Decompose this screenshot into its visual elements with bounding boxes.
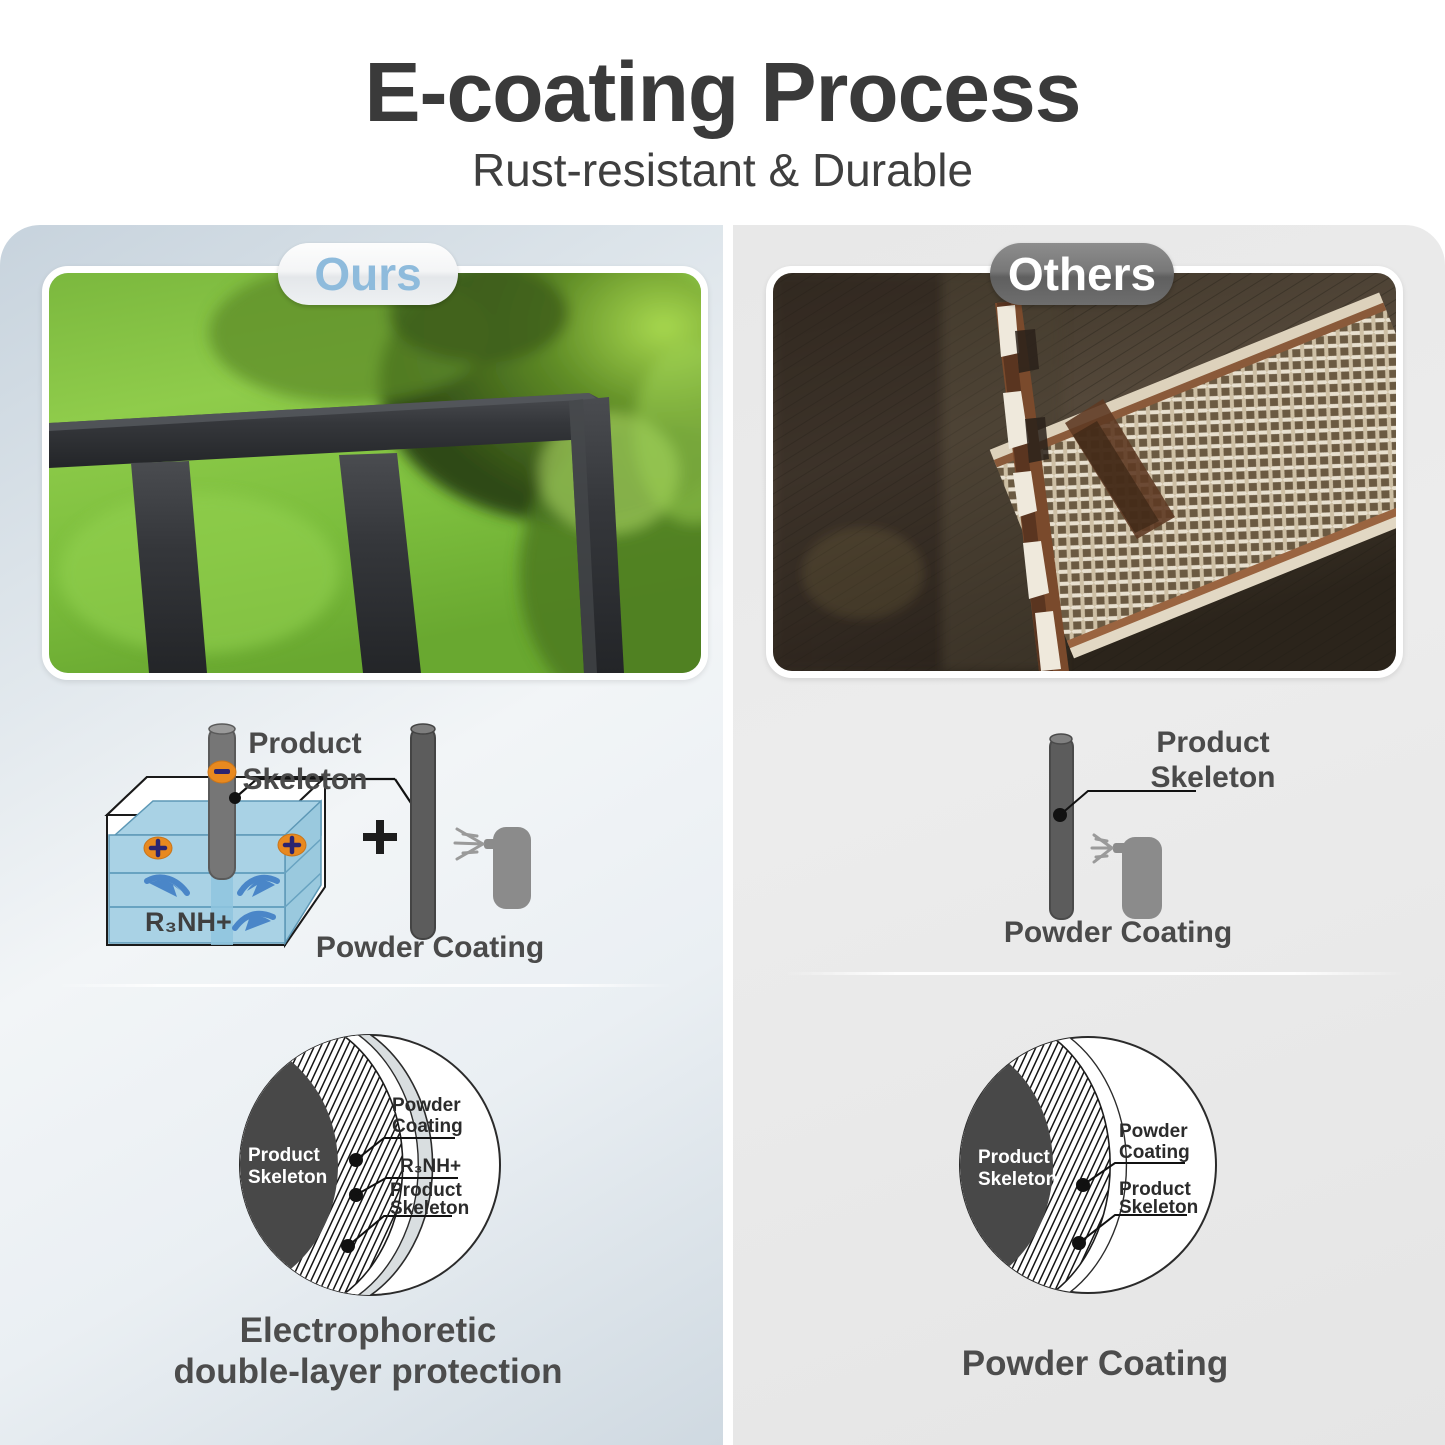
ours-callout-2-line1: R₃NH+ [400, 1156, 461, 1177]
others-core-line2: Skeleton [978, 1169, 1057, 1190]
header: E-coating Process Rust-resistant & Durab… [0, 0, 1445, 218]
others-powder-label: Powder Coating [948, 915, 1288, 951]
page-subtitle: Rust-resistant & Durable [0, 138, 1445, 196]
others-callout-2-line2: Skeleton [1119, 1197, 1198, 1218]
ours-core-line2: Skeleton [248, 1167, 327, 1188]
ours-photo [42, 266, 708, 680]
others-caption: Powder Coating [785, 1343, 1405, 1384]
ours-powder-label: Powder Coating [260, 930, 600, 966]
electrolyte-label: R₃NH+ [145, 907, 232, 937]
divider-left [55, 984, 673, 987]
others-callout-1-line2: Coating [1119, 1142, 1190, 1163]
page-title: E-coating Process [0, 0, 1445, 138]
infographic-root: E-coating Process Rust-resistant & Durab… [0, 0, 1445, 1445]
badge-ours: Ours [278, 243, 458, 305]
ours-callout-1-line1: Powder [392, 1095, 461, 1116]
badge-ours-label: Ours [314, 247, 421, 301]
ours-cross-section: Product Skeleton Powder Coating R₃NH+ Pr… [200, 1020, 530, 1310]
ours-callout-1-line2: Coating [392, 1116, 463, 1137]
badge-others: Others [990, 243, 1174, 305]
ours-callout-3-line2: Skeleton [390, 1198, 469, 1219]
ours-caption-line2: double-layer protection [63, 1351, 673, 1392]
ours-skeleton-label: Product Skeleton [185, 726, 425, 798]
others-cross-section: Product Skeleton Powder Coating Product … [933, 1025, 1243, 1305]
others-callout-1-line1: Powder [1119, 1121, 1188, 1142]
others-caption-line1: Powder Coating [785, 1343, 1405, 1384]
plus-sign [363, 820, 397, 854]
others-photo [766, 266, 1403, 678]
ours-caption-line1: Electrophoretic [63, 1310, 673, 1351]
ours-caption: Electrophoretic double-layer protection [63, 1310, 673, 1392]
others-core-line1: Product [978, 1147, 1050, 1168]
divider-right [785, 972, 1405, 975]
others-skeleton-label: Product Skeleton [1088, 725, 1338, 795]
ours-core-line1: Product [248, 1145, 320, 1166]
badge-others-label: Others [1008, 247, 1156, 301]
